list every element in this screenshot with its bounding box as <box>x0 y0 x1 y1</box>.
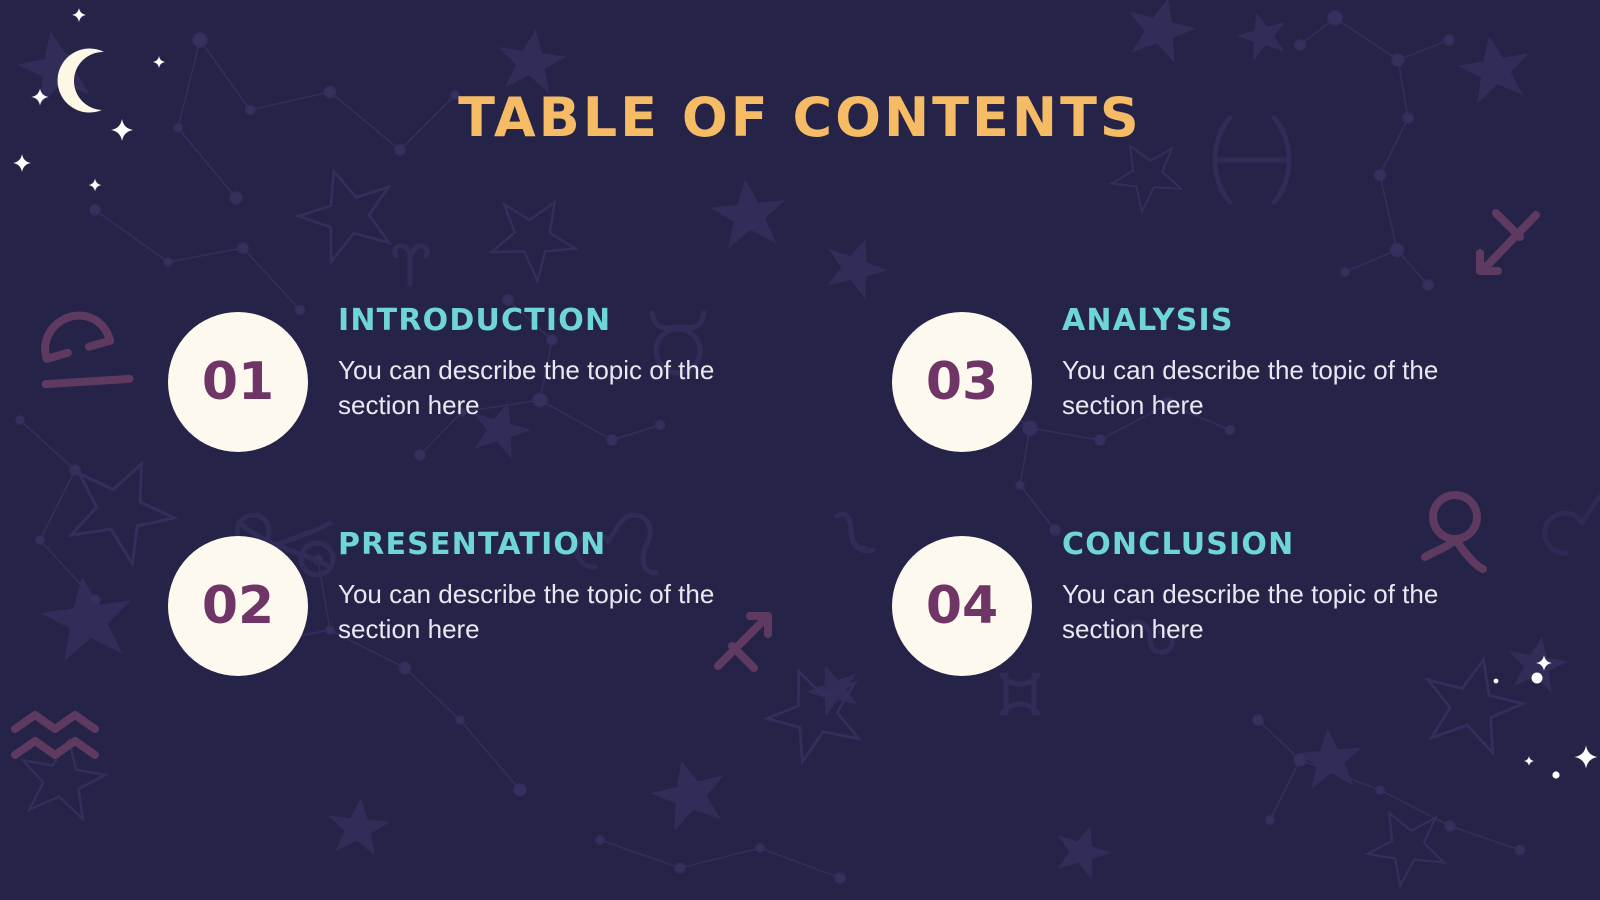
toc-heading: INTRODUCTION <box>338 304 728 337</box>
slide-canvas: TABLE OF CONTENTS 01 INTRODUCTION You ca… <box>0 0 1600 900</box>
toc-number: 04 <box>926 580 998 632</box>
toc-number-badge: 03 <box>892 312 1032 452</box>
toc-number: 01 <box>202 356 274 408</box>
toc-number-badge: 01 <box>168 312 308 452</box>
toc-number: 03 <box>926 356 998 408</box>
toc-description: You can describe the topic of the sectio… <box>1062 353 1452 423</box>
toc-heading: CONCLUSION <box>1062 528 1452 561</box>
toc-item-introduction[interactable]: 01 INTRODUCTION You can describe the top… <box>168 290 892 452</box>
toc-text-block: CONCLUSION You can describe the topic of… <box>1062 514 1452 647</box>
toc-text-block: ANALYSIS You can describe the topic of t… <box>1062 290 1452 423</box>
toc-heading: PRESENTATION <box>338 528 728 561</box>
toc-number-badge: 04 <box>892 536 1032 676</box>
page-title: TABLE OF CONTENTS <box>0 86 1600 149</box>
toc-text-block: PRESENTATION You can describe the topic … <box>338 514 728 647</box>
toc-text-block: INTRODUCTION You can describe the topic … <box>338 290 728 423</box>
toc-item-analysis[interactable]: 03 ANALYSIS You can describe the topic o… <box>892 290 1600 452</box>
toc-number-badge: 02 <box>168 536 308 676</box>
decor-dots <box>1494 673 1560 779</box>
toc-description: You can describe the topic of the sectio… <box>338 353 728 423</box>
table-of-contents-list: 01 INTRODUCTION You can describe the top… <box>0 290 1600 676</box>
toc-item-presentation[interactable]: 02 PRESENTATION You can describe the top… <box>168 514 892 676</box>
toc-item-conclusion[interactable]: 04 CONCLUSION You can describe the topic… <box>892 514 1600 676</box>
toc-heading: ANALYSIS <box>1062 304 1452 337</box>
toc-description: You can describe the topic of the sectio… <box>338 577 728 647</box>
toc-number: 02 <box>202 580 274 632</box>
toc-description: You can describe the topic of the sectio… <box>1062 577 1452 647</box>
